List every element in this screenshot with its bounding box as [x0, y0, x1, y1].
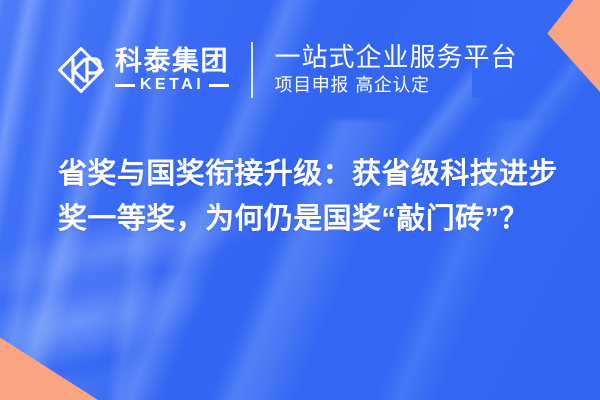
banner-header: 科泰集团 KETAI 一站式企业服务平台 项目申报 高企认定 [0, 42, 600, 98]
brand-logo[interactable]: 科泰集团 KETAI [56, 45, 229, 95]
header-divider [251, 42, 253, 98]
tagline-main: 一站式企业服务平台 [275, 44, 518, 73]
brand-name-en-row: KETAI [115, 77, 229, 93]
wordmark-dash-right [209, 84, 229, 87]
promo-banner: 科泰集团 KETAI 一站式企业服务平台 项目申报 高企认定 省奖与国奖衔接升级… [0, 0, 600, 400]
wordmark-dash-left [115, 84, 135, 87]
brand-wordmark: 科泰集团 KETAI [115, 47, 229, 94]
headline-text: 省奖与国奖衔接升级：获省级科技进步奖一等奖，为何仍是国奖“敲门砖”？ [58, 152, 558, 242]
ketai-monogram-icon [56, 45, 106, 95]
tagline-block: 一站式企业服务平台 项目申报 高企认定 [275, 44, 518, 96]
tagline-sub: 项目申报 高企认定 [275, 76, 518, 96]
brand-name-en: KETAI [140, 77, 204, 93]
brand-name-cn: 科泰集团 [115, 47, 229, 76]
